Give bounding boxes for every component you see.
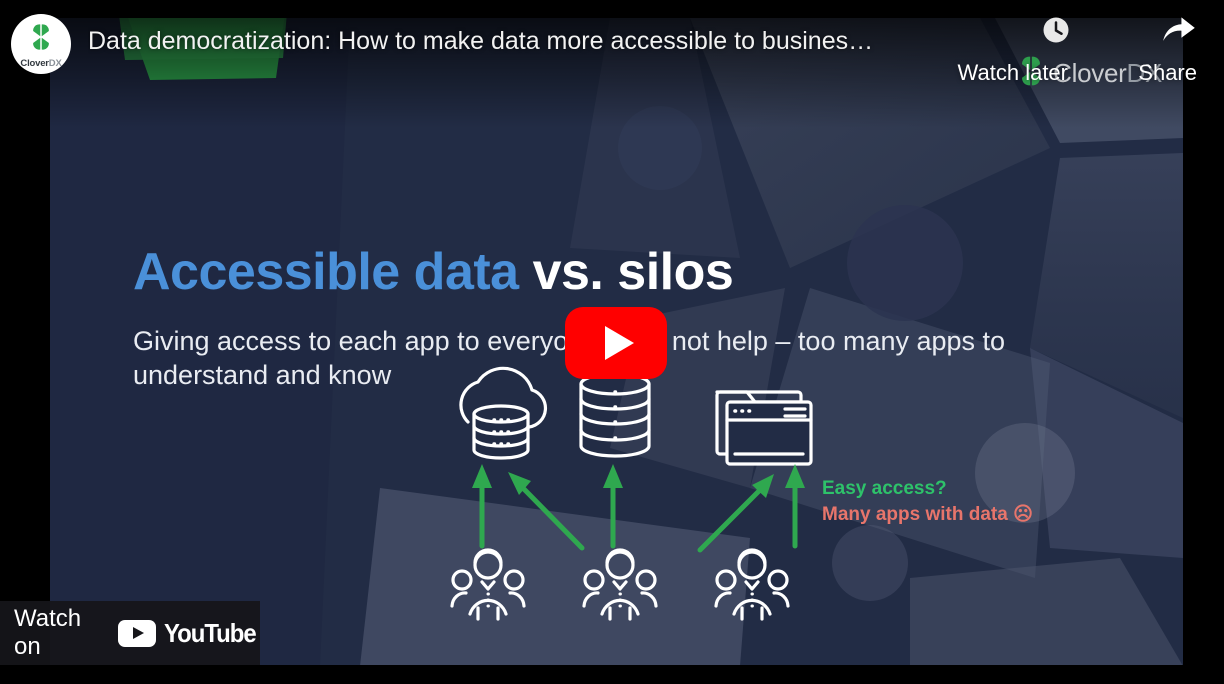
play-button[interactable]: [565, 307, 667, 379]
channel-avatar-label: CloverDX: [20, 58, 61, 69]
letterbox-bar-right: [1183, 0, 1224, 684]
youtube-play-icon: [118, 620, 156, 647]
watch-later-label: Watch later: [958, 60, 1068, 86]
slide-headline: Accessible data vs. silos: [133, 246, 733, 298]
youtube-logo: YouTube: [118, 618, 260, 649]
slide-headline-accent: Accessible data: [133, 243, 519, 301]
share-label: Share: [1138, 60, 1197, 86]
youtube-wordmark: YouTube: [164, 618, 256, 649]
callout-many-apps: Many apps with data ☹: [822, 502, 1033, 528]
letterbox-bar-bottom: [0, 665, 1224, 684]
share-arrow-icon: [1162, 15, 1196, 50]
letterbox-bar-left: [0, 0, 50, 684]
callout-easy-access: Easy access?: [822, 476, 1033, 502]
slide-callout: Easy access? Many apps with data ☹: [822, 476, 1033, 527]
watch-on-youtube-button[interactable]: Watch on YouTube: [0, 601, 260, 665]
share-button[interactable]: [1163, 16, 1195, 48]
video-title[interactable]: Data democratization: How to make data m…: [88, 27, 978, 56]
clover-icon: [26, 22, 56, 57]
channel-avatar[interactable]: CloverDX: [11, 14, 71, 74]
play-triangle-icon: [605, 326, 634, 360]
watch-later-button[interactable]: [1040, 16, 1072, 48]
watch-on-label: Watch on: [14, 605, 106, 661]
youtube-embedded-player[interactable]: Accessible data vs. silos Giving access …: [0, 0, 1224, 684]
slide-headline-rest: vs. silos: [533, 243, 734, 301]
clock-icon: [1041, 15, 1071, 50]
